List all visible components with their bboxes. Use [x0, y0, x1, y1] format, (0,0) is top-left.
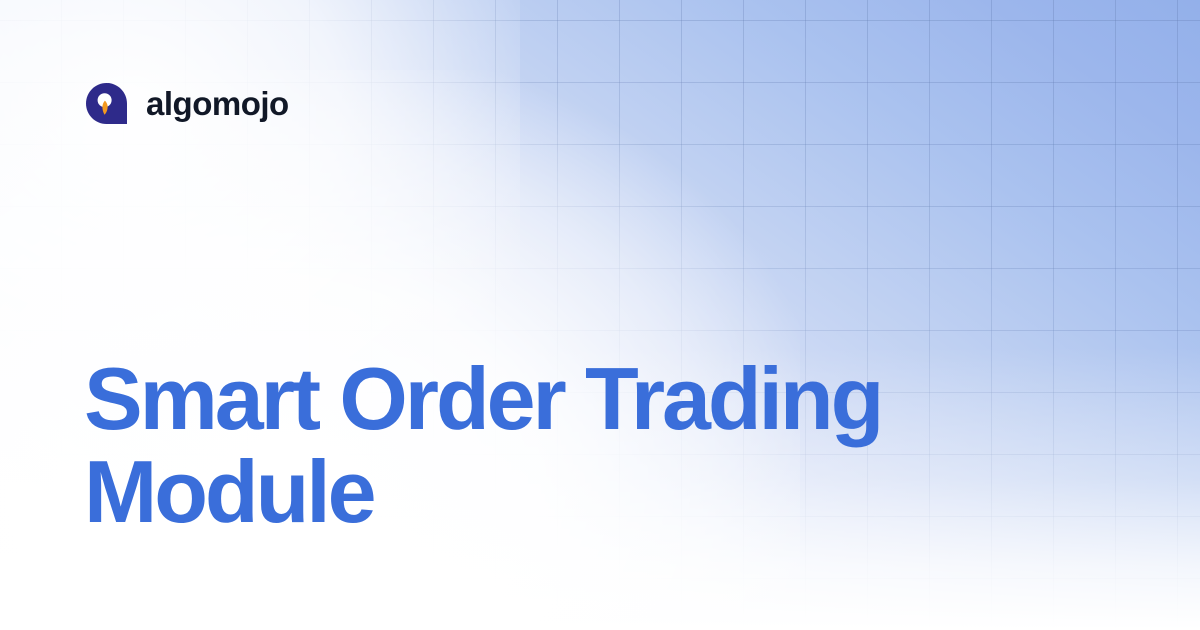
algomojo-a-mark-icon [86, 83, 127, 124]
brand-name: algomojo [146, 87, 289, 120]
og-card: algomojo Smart Order Trading Module [0, 0, 1200, 630]
brand-lockup: algomojo [86, 83, 289, 124]
page-title: Smart Order Trading Module [84, 352, 1044, 539]
